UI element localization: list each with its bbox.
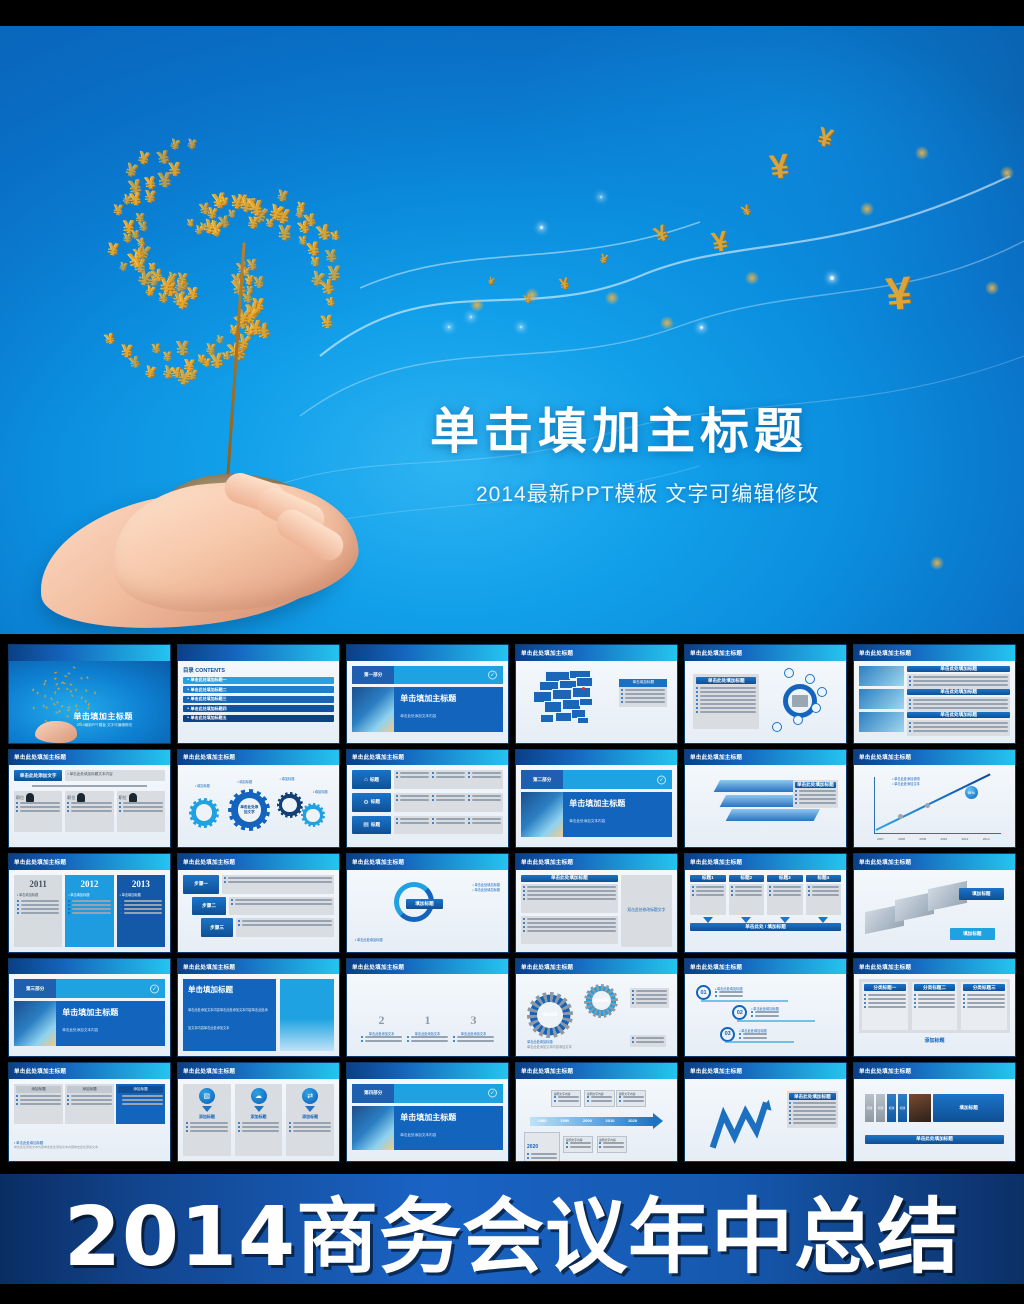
yuan-ray: ¥ — [114, 204, 123, 219]
sailboat-image — [14, 1001, 56, 1046]
slide-thumbnail[interactable]: 单击此处填加主标题单击此处添加文字▪ 填加标题▪ 填加标题▪ 填加标题▪ 填加标… — [177, 749, 340, 849]
slide-thumbnail[interactable]: 单击此处填加主标题2011▪ 单击填加标题2012▪ 单击填加标题2013▪ 单… — [8, 853, 171, 953]
funnel-body — [767, 884, 803, 915]
photo-thumb — [859, 712, 904, 732]
icon-col-title: 添加标题 — [186, 1114, 228, 1120]
axis-tick: 2010 — [941, 837, 948, 841]
axis-tick: 2009 — [919, 837, 926, 841]
layer-slab — [726, 809, 820, 821]
thumb-body: 单击此处填加标题双击此处修改标题文字 — [516, 870, 677, 952]
number-badge: 02 — [732, 1005, 747, 1020]
section-main: 单击填加主标题单击此处添加文本内容 — [521, 792, 672, 837]
cycle-note: ▪ 单击此处填加标题 — [355, 937, 383, 942]
block-tag[interactable]: 填加标题 — [950, 928, 995, 940]
page-card: 标题 — [898, 1094, 907, 1122]
yuan-ray: ¥ — [107, 240, 119, 258]
icon-tag[interactable]: ⌂标题 — [352, 770, 391, 789]
map-callout: 单击填加标题 — [619, 679, 667, 707]
check-icon: ✓ — [657, 775, 666, 784]
slide-thumbnail[interactable]: 单击此处填加主标题单击此处填加标题双击此处修改标题文字 — [515, 853, 678, 953]
number-badge: 03 — [720, 1027, 735, 1042]
timeline-note: 说明文字内容 — [616, 1090, 646, 1107]
row-title: 单击此处填加标题 — [907, 666, 1010, 672]
thumb-body: 单击此处添加文字▪ 填加标题▪ 填加标题▪ 填加标题▪ 填加标题 — [178, 765, 339, 847]
row-icon: ▤ — [363, 821, 369, 828]
section-top: 第一部分✓ — [352, 666, 503, 685]
icon-col: ☁添加标题 — [235, 1084, 283, 1156]
slide-thumbnail[interactable]: 单击此处填加主标题单击此处填加标题 — [684, 749, 847, 849]
slide-thumbnail[interactable]: 第二部分✓单击填加主标题单击此处添加文本内容 — [515, 749, 678, 849]
yuan-ray: ¥ — [61, 683, 66, 685]
arrow-card: 添加标题 — [14, 1084, 63, 1124]
caret-down-icon — [254, 1106, 264, 1112]
yuan-ray: ¥ — [177, 339, 189, 360]
year-column: 2013▪ 单击填加标题 — [117, 875, 165, 947]
yuan-dandelion-head: ¥¥¥¥¥¥¥¥¥¥¥¥¥¥¥¥¥¥¥¥¥¥¥¥¥¥¥¥¥¥¥¥¥¥¥¥¥¥¥¥… — [58, 108, 358, 408]
cycle-note: ▪ 单击此处填加标题▪ 单击此处填加标题 — [472, 882, 500, 892]
slide-thumbnail[interactable]: 单击此处填加主标题01▪ 单击此处填加标题02▪ 单击此处填加标题03▪ 单击此… — [684, 958, 847, 1058]
gear-note-panel — [630, 988, 669, 1008]
caret-down-icon — [780, 917, 790, 923]
gear-icon: 填加标题 — [527, 992, 573, 1038]
thumb-header: 单击此处填加主标题 — [9, 1063, 170, 1079]
org-card: 职位 — [117, 791, 165, 831]
yuan-ray: ¥ — [229, 209, 236, 220]
cover-thumb-body: ¥¥¥¥¥¥¥¥¥¥¥¥¥¥¥¥¥¥¥¥¥¥¥¥¥¥¥¥¥¥¥¥¥¥¥¥¥¥¥¥… — [9, 661, 170, 743]
icon-tag[interactable]: ⚙标题 — [352, 793, 391, 812]
col-body — [521, 884, 618, 913]
thumb-header: 单击此处填加主标题 — [685, 854, 846, 870]
pages-tag[interactable]: 填加标题 — [933, 1094, 1004, 1122]
three-col-panel: 分类标题一分类标题二分类标题三 — [859, 979, 1010, 1032]
yuan-ray: ¥ — [206, 342, 216, 358]
col-icon: ⇄ — [302, 1088, 318, 1104]
gear-icon: 填加标题 — [584, 984, 618, 1018]
timeline-year: 2020 — [628, 1118, 637, 1123]
thumb-body: ¥¥¥¥¥¥¥¥¥¥¥¥¥¥¥¥¥¥¥¥¥¥¥¥¥¥¥¥¥¥¥¥¥¥¥¥¥¥¥¥… — [9, 661, 170, 743]
yuan-ray: ¥ — [188, 219, 194, 229]
slide-thumbnail[interactable]: 第四部分✓单击填加主标题单击此处添加文本内容 — [346, 1062, 509, 1162]
slide-thumbnail[interactable]: 单击此处填加主标题单击填加标题 — [515, 644, 678, 744]
yuan-ray: ¥ — [187, 137, 197, 151]
slide-thumbnail[interactable]: 第一部分✓单击填加主标题单击此处添加文本内容 — [346, 644, 509, 744]
yuan-ray: ¥ — [31, 688, 34, 693]
yuan-ray: ¥ — [267, 218, 274, 230]
yuan-ray: ¥ — [248, 215, 258, 232]
row-title: 单击此处填加标题 — [907, 712, 1010, 718]
contents-heading: 目录 CONTENTS — [183, 666, 334, 674]
icon-col: ⇄添加标题 — [286, 1084, 334, 1156]
caret-down-icon — [741, 917, 751, 923]
year-label: 2012 — [68, 879, 110, 889]
slide-thumbnail[interactable]: 单击此处填加主标题213单击此处添加文本单击此处添加文本单击此处添加文本 — [346, 958, 509, 1058]
thumb-header: 单击此处填加主标题 — [854, 1063, 1015, 1079]
yuan-ray: ¥ — [326, 296, 336, 309]
thumb-body: 第三部分✓单击填加主标题单击此处添加文本内容 — [9, 974, 170, 1056]
yuan-ray: ¥ — [36, 691, 39, 696]
hub-orb-icon[interactable] — [784, 668, 794, 678]
thumb-header — [516, 750, 677, 766]
rank-number: 2 — [361, 1013, 402, 1028]
yuan-ray: ¥ — [169, 160, 181, 180]
sailboat-image — [352, 687, 394, 732]
section-label: 第二部分 — [521, 770, 563, 789]
data-point — [925, 803, 930, 808]
yuan-ray: ¥ — [321, 312, 333, 332]
yuan-ray: ¥ — [64, 687, 69, 691]
thumb-header: 单击此处填加主标题 — [347, 750, 508, 766]
thumb-body: 目录 CONTENTS‣ 单击此处填加标题一‣ 单击此处填加标题二‣ 单击此处填… — [178, 661, 339, 743]
contents-item[interactable]: ‣ 单击此处填加标题五 — [183, 715, 334, 722]
thumb-body: 单击填加标题单击此处添加文本内容单击此处添加文本内容单击此处添加文本内容单击此处… — [178, 974, 339, 1056]
yuan-ray: ¥ — [93, 691, 96, 696]
section-bar: ✓ — [563, 770, 672, 789]
sailboat-image — [521, 792, 563, 837]
axis-tick: 2007 — [877, 837, 884, 841]
person-icon — [26, 793, 34, 802]
timeline-year: 1990 — [560, 1118, 569, 1123]
timeline-callout: 2020 — [524, 1132, 560, 1162]
thumb-body: 01▪ 单击此处填加标题02▪ 单击此处填加标题03▪ 单击此处填加标题 — [685, 974, 846, 1056]
thumb-header: 单击此处填加主标题 — [685, 1063, 846, 1079]
contents-item[interactable]: ‣ 单击此处填加标题四 — [183, 705, 334, 712]
yuan-ray: ¥ — [74, 688, 78, 693]
yuan-ray: ¥ — [149, 262, 155, 273]
thumb-body: 步骤一步骤二步骤三 — [178, 870, 339, 952]
yuan-ray: ¥ — [119, 262, 128, 275]
hands-holding-soil — [28, 460, 388, 634]
step-body — [222, 875, 334, 894]
cover-thumb-title: 单击填加主标题 — [73, 711, 133, 722]
dandelion-seed — [860, 202, 874, 216]
banner-title-text: 2014商务会议年中总结 — [64, 1170, 960, 1289]
col-head: 分类标题三 — [963, 984, 1005, 991]
section-bar: ✓ — [394, 1084, 503, 1103]
thumb-body: 单击此处填加标题 — [685, 661, 846, 743]
funnel-body — [729, 884, 765, 915]
thumb-header: 单击此处填加主标题 — [854, 750, 1015, 766]
timeline-note: 说明文字内容 — [597, 1136, 627, 1153]
hub-list-title: 单击此处填加标题 — [696, 677, 756, 684]
sparkle — [600, 196, 602, 198]
yuan-ray: ¥ — [137, 149, 150, 168]
rank-number: 1 — [407, 1013, 448, 1028]
yuan-ray: ¥ — [144, 364, 156, 382]
caret-down-icon — [202, 1106, 212, 1112]
section-bar: ✓ — [56, 979, 165, 998]
step-body — [236, 918, 334, 937]
thumb-header: 单击此处填加主标题 — [516, 645, 677, 661]
contents-item[interactable]: ‣ 单击此处填加标题三 — [183, 696, 334, 703]
sparkle — [520, 326, 522, 328]
org-card: 职位 — [65, 791, 113, 831]
slide-thumbnail[interactable]: 单击此处填加主标题分类标题一分类标题二分类标题三添加标题 — [853, 958, 1016, 1058]
section-top: 第二部分✓ — [521, 770, 672, 789]
yuan-ray: ¥ — [316, 221, 333, 244]
hub-list-panel: 单击此处填加标题 — [693, 674, 759, 729]
slide-thumbnail[interactable]: 单击此处填加主标题单击此处填加标题 — [684, 644, 847, 744]
squiggle-card: 单击此处填加标题 — [787, 1091, 838, 1128]
timeline-note: 说明文字内容 — [584, 1090, 614, 1107]
yuan-ray: ¥ — [86, 706, 90, 711]
slide-thumbnail[interactable]: 单击此处填加主标题填加标题▪ 单击此处填加标题▪ 单击此处填加标题▪ 单击此处填… — [346, 853, 509, 953]
row-body — [907, 697, 1010, 713]
slide-thumbnail[interactable]: 单击此处填加主标题▧添加标题☁添加标题⇄添加标题 — [177, 1062, 340, 1162]
slide-thumbnail[interactable]: 单击此处填加主标题单击此处添加文字▪ 单击此处填加标题文本内容职位职位职位 — [8, 749, 171, 849]
yuan-ray: ¥ — [172, 366, 182, 382]
block-tag[interactable]: 填加标题 — [959, 888, 1004, 900]
floating-yuan-glyph: ¥ — [884, 265, 914, 321]
slide-thumbnail[interactable]: 单击此处填加主标题添加标题添加标题添加标题▪ 单击此处填加标题单击此处添加文本内… — [8, 1062, 171, 1162]
icon-row-body — [394, 816, 503, 835]
hub-orb-icon[interactable] — [793, 715, 803, 725]
icon-row-body — [394, 793, 503, 812]
slide-thumbnail[interactable]: 单击此处填加主标题单击此处填加标题 — [684, 1062, 847, 1162]
dandelion-seed — [525, 288, 539, 302]
slide-thumbnail[interactable]: 单击此处填加主标题19801990200020102020说明文字内容说明文字内… — [515, 1062, 678, 1162]
side-image — [280, 979, 334, 1051]
year-columns: 2011▪ 单击填加标题2012▪ 单击填加标题2013▪ 单击填加标题 — [14, 875, 165, 947]
thumb-body: 91%▪ 单击此处添加说明▪ 单击此处添加文本20072008200920102… — [854, 765, 1015, 847]
timeline-note: 说明文字内容 — [551, 1090, 581, 1107]
timeline-year: 2000 — [583, 1118, 592, 1123]
section-text: 单击填加主标题单击此处添加文本内容 — [394, 687, 503, 732]
thumb-body: ⌂标题⚙标题▤标题 — [347, 765, 508, 847]
dandelion-seed — [915, 146, 929, 160]
step-chip[interactable]: 步骤一 — [183, 875, 219, 894]
yuan-ray: ¥ — [177, 272, 188, 289]
check-icon: ✓ — [150, 984, 159, 993]
yuan-ray: ¥ — [71, 666, 76, 670]
thumb-header: 单击此处填加主标题 — [516, 1063, 677, 1079]
step-body — [229, 897, 334, 916]
yuan-ray: ¥ — [145, 188, 156, 206]
axis-tick: 2012 — [962, 837, 969, 841]
slide-thumbnail[interactable]: 单击此处填加主标题单击此处填加标题单击此处填加标题单击此处填加标题 — [853, 644, 1016, 744]
yuan-ray: ¥ — [53, 671, 58, 675]
slide-thumbnail[interactable]: 单击此处填加主标题⌂标题⚙标题▤标题 — [346, 749, 509, 849]
funnel-body — [690, 884, 726, 915]
page-card: 标题 — [887, 1094, 896, 1122]
row-icon: ⚙ — [363, 799, 368, 806]
yuan-ray: ¥ — [53, 690, 57, 695]
gear-caption: ▪ 填加标题 — [195, 783, 210, 788]
yuan-ray: ¥ — [130, 190, 142, 209]
yuan-ray: ¥ — [254, 274, 264, 291]
hero-cover-slide: ¥¥¥¥¥¥¥¥¥¥¥¥¥¥¥¥¥¥¥¥¥¥¥¥¥¥¥¥¥¥¥¥¥¥¥¥¥¥¥¥… — [0, 26, 1024, 634]
slide-thumbnail[interactable]: 单击此处填加主标题标题1标题2标题3标题4单击此处 / 填加标题 — [684, 853, 847, 953]
yuan-ray: ¥ — [79, 676, 84, 681]
gear-caption: ▪ 填加标题 — [280, 776, 295, 781]
thumb-body: 单击此处填加标题 — [685, 1079, 846, 1161]
arrow-card: 添加标题 — [65, 1084, 114, 1124]
col-head: 分类标题一 — [864, 984, 906, 991]
arrow-card: 添加标题 — [116, 1084, 165, 1124]
hero-subtitle: 2014最新PPT模板 文字可编辑修改 — [476, 478, 819, 508]
row-title: 单击此处填加标题 — [907, 689, 1010, 695]
contents-item[interactable]: ‣ 单击此处填加标题一 — [183, 677, 334, 684]
year-column: 2012▪ 单击填加标题 — [65, 875, 113, 947]
thumb-body: 单击此处填加标题 — [685, 765, 846, 847]
section-label: 第一部分 — [352, 666, 394, 685]
yuan-ray: ¥ — [63, 675, 68, 678]
thumb-header — [178, 645, 339, 661]
slide-thumbnail[interactable]: 单击此处填加主标题单击填加标题单击此处添加文本内容单击此处添加文本内容单击此处添… — [177, 958, 340, 1058]
dandelion-seed — [660, 316, 674, 330]
sparkle — [540, 226, 543, 229]
thumb-body: 分类标题一分类标题二分类标题三添加标题 — [854, 974, 1015, 1056]
check-icon: ✓ — [488, 1089, 497, 1098]
thumb-body: 2011▪ 单击填加标题2012▪ 单击填加标题2013▪ 单击填加标题 — [9, 870, 170, 952]
slide-title: 单击填加标题 — [188, 984, 271, 995]
year-label: 2011 — [17, 879, 59, 889]
funnel-head: 标题2 — [729, 875, 765, 882]
gear-note-panel — [630, 1035, 666, 1047]
timeline-year: 1980 — [538, 1118, 547, 1123]
section-bar: ✓ — [394, 666, 503, 685]
gear-icon: 单击此处添加文字 — [228, 789, 270, 831]
icon-col-title: 添加标题 — [238, 1114, 280, 1120]
thumb-header: 单击此处填加主标题 — [9, 750, 170, 766]
mini-dandelion: ¥¥¥¥¥¥¥¥¥¥¥¥¥¥¥¥¥¥¥¥¥¥¥¥¥¥¥¥¥¥¥¥¥¥¥¥¥¥¥¥… — [22, 672, 106, 715]
hub-orb-icon[interactable] — [772, 722, 782, 732]
gear-label: 填加标题 — [543, 1013, 557, 1018]
section-text: 单击填加主标题单击此处添加文本内容 — [563, 792, 672, 837]
gear-label: 填加标题 — [594, 998, 608, 1003]
thumb-header: 单击此处填加主标题 — [685, 750, 846, 766]
slide-thumbnail[interactable]: 目录 CONTENTS‣ 单击此处填加标题一‣ 单击此处填加标题二‣ 单击此处填… — [177, 644, 340, 744]
percent-badge: 91% — [965, 786, 978, 799]
data-point — [898, 814, 903, 819]
hub-orb-icon[interactable] — [817, 687, 827, 697]
dandelion-seed — [930, 556, 944, 570]
gear-icon — [301, 803, 325, 827]
contents-item[interactable]: ‣ 单击此处填加标题二 — [183, 686, 334, 693]
growth-arrow — [702, 1097, 784, 1152]
check-icon: ✓ — [488, 670, 497, 679]
china-map — [530, 668, 615, 731]
thumb-header: 单击此处填加主标题 — [178, 1063, 339, 1079]
yuan-ray: ¥ — [71, 693, 73, 698]
row-body — [907, 720, 1010, 736]
axis-tick: 2008 — [898, 837, 905, 841]
org-card: 职位 — [14, 791, 62, 831]
thumb-body: 单击填加标题 — [516, 661, 677, 743]
thumb-header: 单击此处填加主标题 — [685, 645, 846, 661]
yuan-ray: ¥ — [68, 683, 73, 688]
number-track — [725, 1041, 794, 1043]
section-main: 单击填加主标题单击此处添加文本内容 — [14, 1001, 165, 1046]
thumb-header: 单击此处填加主标题 — [685, 959, 846, 975]
province — [579, 698, 593, 707]
thumb-body: 填加标题▪ 单击此处填加标题▪ 单击此处填加标题▪ 单击此处填加标题 — [347, 870, 508, 952]
yuan-ray: ¥ — [170, 137, 181, 152]
slide-thumbnail[interactable]: 单击此处填加主标题填加标题填加标题 — [853, 853, 1016, 953]
section-main: 单击填加主标题单击此处添加文本内容 — [352, 1106, 503, 1151]
yuan-ray: ¥ — [164, 349, 172, 362]
layers-note-title: 单击此处填加标题 — [795, 782, 836, 788]
axis-tick: 2014 — [983, 837, 990, 841]
icon-col-title: 添加标题 — [289, 1114, 331, 1120]
chart-legend: ▪ 单击此处添加说明▪ 单击此处添加文本 — [892, 776, 920, 786]
slide-thumbnail[interactable]: 单击此处填加主标题91%▪ 单击此处添加说明▪ 单击此处添加文本20072008… — [853, 749, 1016, 849]
funnel-foot: 单击此处 / 填加标题 — [690, 923, 841, 931]
slide-thumbnail[interactable]: 单击此处填加主标题步骤一步骤二步骤三 — [177, 853, 340, 953]
step-chip[interactable]: 步骤三 — [201, 918, 233, 937]
photo-thumb — [859, 666, 904, 686]
sailboat-image — [352, 1106, 394, 1151]
yuan-ray: ¥ — [65, 715, 70, 718]
hub-orb-icon[interactable] — [805, 674, 815, 684]
thumb-header: 单击此处填加主标题 — [178, 750, 339, 766]
icon-col: ▧添加标题 — [183, 1084, 231, 1156]
bottom-title-banner: 2014商务会议年中总结 — [0, 1174, 1024, 1284]
hero-main-title: 单击填加主标题 — [430, 392, 808, 463]
thumb-header: 单击此处填加主标题 — [854, 959, 1015, 975]
gear-caption: ▪ 填加标题 — [237, 779, 252, 784]
yuan-ray: ¥ — [84, 688, 87, 693]
yuan-ray: ¥ — [122, 342, 133, 361]
yuan-ray: ¥ — [216, 199, 223, 211]
section-text: 单击填加主标题单击此处添加文本内容 — [56, 1001, 165, 1046]
funnel-head: 标题4 — [806, 875, 842, 882]
timeline-note: 说明文字内容 — [563, 1136, 593, 1153]
section-text: 单击填加主标题单击此处添加文本内容 — [394, 1106, 503, 1151]
yuan-ray: ¥ — [216, 334, 224, 346]
province — [577, 717, 589, 725]
caret-down-icon — [818, 917, 828, 923]
yuan-ray: ¥ — [104, 332, 116, 348]
hub-orb-icon[interactable] — [811, 703, 821, 713]
slide-thumbnail[interactable]: 单击此处填加主标题填加标题填加标题单击此处填加标题单击此处添加文本内容添加文本 — [515, 958, 678, 1058]
thumb-header: 单击此处填加主标题 — [347, 854, 508, 870]
step-chip[interactable]: 步骤二 — [192, 897, 226, 916]
yuan-ray: ¥ — [59, 705, 64, 708]
section-main: 单击填加主标题单击此处添加文本内容 — [352, 687, 503, 732]
section-top: 第四部分✓ — [352, 1084, 503, 1103]
callout-year: 2020 — [527, 1144, 538, 1150]
y-axis — [874, 777, 875, 833]
slide-thumbnail[interactable]: 第三部分✓单击填加主标题单击此处添加文本内容 — [8, 958, 171, 1058]
yuan-ray: ¥ — [50, 697, 53, 702]
ppt-template-preview-page: ¥¥¥¥¥¥¥¥¥¥¥¥¥¥¥¥¥¥¥¥¥¥¥¥¥¥¥¥¥¥¥¥¥¥¥¥¥¥¥¥… — [0, 0, 1024, 1304]
col-icon: ▧ — [199, 1088, 215, 1104]
col-icon: ☁ — [251, 1088, 267, 1104]
thumb-body: 单击此处添加文字▪ 单击此处填加标题文本内容职位职位职位 — [9, 765, 170, 847]
thumb-body: 添加标题添加标题添加标题▪ 单击此处填加标题单击此处添加文本内容单击此处添加文本… — [9, 1079, 170, 1161]
photo-thumb — [859, 689, 904, 709]
org-note: ▪ 单击此处填加标题文本内容 — [65, 770, 165, 781]
slide-thumbnail[interactable]: 单击此处填加主标题标题标题标题标题填加标题单击此处填加标题 — [853, 1062, 1016, 1162]
x-axis — [874, 833, 1001, 834]
col-title: 单击此处填加标题 — [521, 875, 618, 882]
col-head: 分类标题二 — [914, 984, 956, 991]
yuan-ray: ¥ — [279, 223, 292, 245]
sparkle — [448, 326, 450, 328]
slide-thumbnail-grid: ¥¥¥¥¥¥¥¥¥¥¥¥¥¥¥¥¥¥¥¥¥¥¥¥¥¥¥¥¥¥¥¥¥¥¥¥¥¥¥¥… — [0, 640, 1024, 1168]
yuan-ray: ¥ — [139, 220, 149, 234]
person-icon — [77, 793, 85, 802]
icon-tag[interactable]: ▤标题 — [352, 816, 391, 835]
thumb-header: 单击此处填加主标题 — [516, 854, 677, 870]
thumb-body: 213单击此处添加文本单击此处添加文本单击此处添加文本 — [347, 974, 508, 1056]
thumb-body: 第四部分✓单击填加主标题单击此处添加文本内容 — [347, 1079, 508, 1161]
slide-thumbnail[interactable]: ¥¥¥¥¥¥¥¥¥¥¥¥¥¥¥¥¥¥¥¥¥¥¥¥¥¥¥¥¥¥¥¥¥¥¥¥¥¥¥¥… — [8, 644, 171, 744]
yuan-ray: ¥ — [54, 711, 59, 715]
line-chart: 91%▪ 单击此处添加说明▪ 单击此处添加文本20072008200920102… — [859, 770, 1010, 842]
china-map-wrap: 单击填加标题 — [521, 666, 672, 738]
thumb-body: 19801990200020102020说明文字内容说明文字内容说明文字内容说明… — [516, 1079, 677, 1161]
